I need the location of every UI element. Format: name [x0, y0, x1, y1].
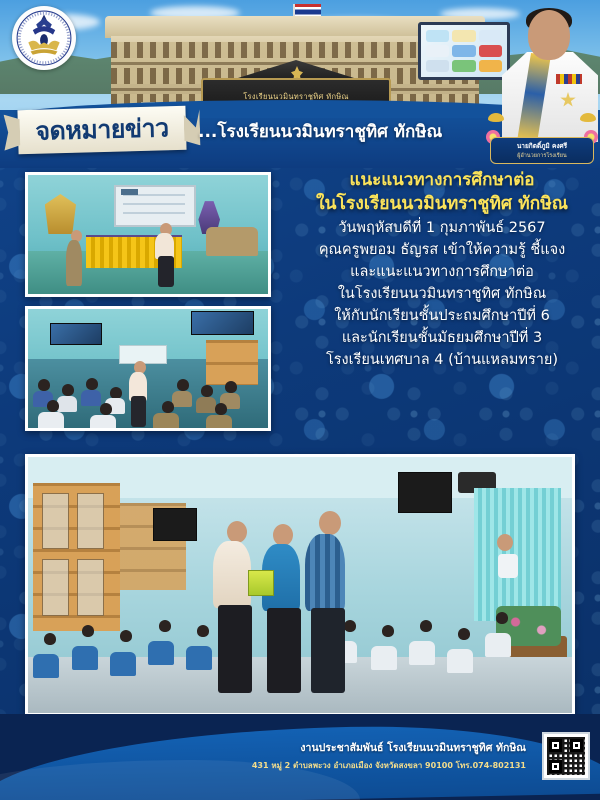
content-area: แนะแนวทางการศึกษาต่อ ในโรงเรียนนวมินทราช… — [0, 168, 600, 800]
photo-audience-hall[interactable] — [25, 306, 271, 431]
male-teacher-head — [319, 511, 341, 535]
body-line-6: และนักเรียนชั้นมัธยมศึกษาปีที่ 3 — [292, 327, 592, 349]
leaf-ornament-icon — [580, 113, 596, 122]
newsletter-poster: โรงเรียนนวมินทราชูทิศ ทักษิณ NAWAMINDHAR… — [0, 0, 600, 800]
footer-organization: งานประชาสัมพันธ์ โรงเรียนนวมินทราชูทิศ ท… — [252, 739, 526, 756]
headline-line-1: แนะแนวทางการศึกษาต่อ — [292, 168, 592, 192]
projector-screen — [114, 185, 196, 228]
photo-teacher-presentation[interactable] — [25, 172, 271, 297]
sofa — [206, 227, 259, 256]
director-role: ผู้อำนวยการโรงเรียน — [495, 152, 589, 160]
male-teacher-figure — [305, 534, 345, 611]
body-line-1: วันพฤหัสบดีที่ 1 กุมภาพันธ์ 2567 — [292, 217, 592, 239]
footer: งานประชาสัมพันธ์ โรงเรียนนวมินทราชูทิศ ท… — [0, 714, 600, 800]
standing-student — [498, 554, 518, 578]
body-line-3: และแนะแนวทางการศึกษาต่อ — [292, 261, 592, 283]
wall-tv — [153, 508, 197, 541]
leaf-ornament-icon — [488, 113, 504, 122]
student-audience — [28, 354, 268, 428]
director-face — [528, 10, 570, 60]
body-line-2: คุณครูพยอม ธัญรส เข้าให้ความรู้ ชี้แจง — [292, 239, 592, 261]
newsletter-subtitle: ...โรงเรียนนวมินทราชูทิศ ทักษิณ — [198, 118, 442, 145]
wall-tv — [191, 311, 253, 335]
body-line-5: ให้กับนักเรียนชั้นประถมศึกษาปีที่ 6 — [292, 305, 592, 327]
newsletter-ribbon: จดหมายข่าว — [17, 106, 186, 154]
host-teacher-head — [273, 524, 293, 546]
guest-teacher-head — [227, 521, 247, 543]
headline-line-2: ในโรงเรียนนวมินทราชูทิศ ทักษิณ — [292, 192, 592, 217]
header-banner: โรงเรียนนวมินทราชูทิศ ทักษิณ NAWAMINDHAR… — [0, 0, 600, 168]
footer-address: 431 หมู่ 2 ตำบลพะวง อำเภอเมือง จังหวัดสง… — [252, 759, 526, 772]
gift-bag — [248, 570, 274, 596]
director-nameplate: นายกิตติ์ภูมิ คงศรี ผู้อำนวยการโรงเรียน — [490, 137, 594, 164]
article-text-column: แนะแนวทางการศึกษาต่อ ในโรงเรียนนวมินทราช… — [292, 168, 592, 371]
director-uniform — [502, 52, 598, 142]
qr-code[interactable] — [542, 732, 590, 780]
director-name: นายกิตติ์ภูมิ คงศรี — [495, 141, 589, 151]
photo-group-handover[interactable] — [25, 454, 575, 716]
body-line-7: โรงเรียนเทศบาล 4 (บ้านแหลมทราย) — [292, 349, 592, 371]
wall-tv — [50, 323, 103, 344]
student-figure — [66, 240, 82, 285]
director-medals — [556, 74, 582, 84]
school-logo — [12, 6, 76, 70]
guest-teacher-figure — [213, 541, 251, 608]
body-line-4: ในโรงเรียนนวมินทราชูทิศ ทักษิณ — [292, 283, 592, 305]
newsletter-label: จดหมายข่าว — [35, 108, 169, 151]
wall-tv — [398, 472, 452, 513]
footer-text-block: งานประชาสัมพันธ์ โรงเรียนนวมินทราชูทิศ ท… — [252, 739, 526, 772]
